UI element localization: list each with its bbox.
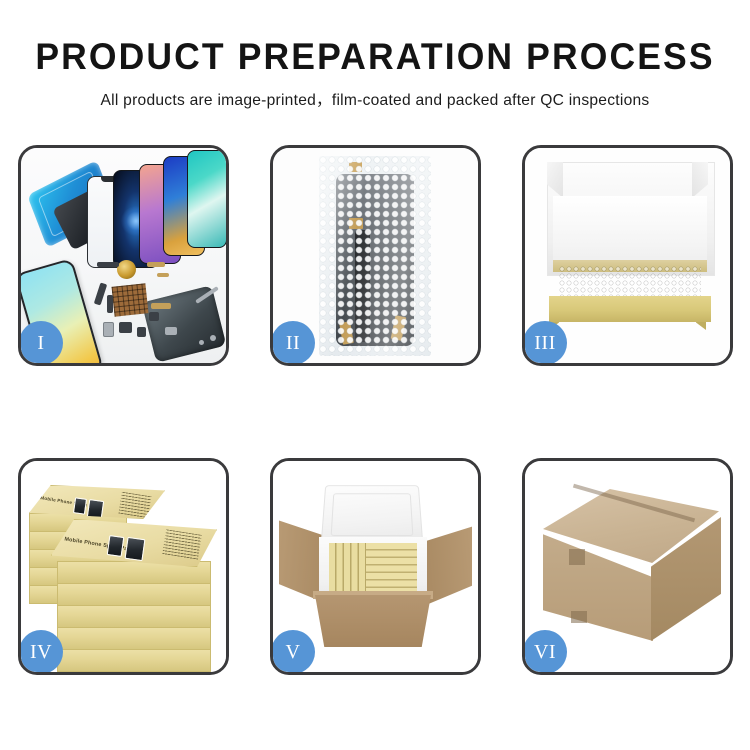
step-badge-5: V bbox=[271, 630, 315, 674]
step-badge-6: VI bbox=[523, 630, 567, 674]
step-badge-1: I bbox=[19, 321, 63, 365]
camera-module bbox=[149, 312, 159, 321]
screw bbox=[210, 335, 216, 341]
box-label-spec-lines bbox=[162, 529, 202, 560]
page-subtitle: All products are image-printed，film-coat… bbox=[0, 88, 750, 110]
spare-part bbox=[97, 262, 119, 267]
logic-board-chip bbox=[112, 283, 149, 316]
sim-tray bbox=[103, 322, 114, 337]
bubble-wrapped-contents bbox=[559, 266, 701, 298]
box-label-thumbnail bbox=[107, 535, 125, 557]
process-step-panel-6[interactable]: VI bbox=[522, 458, 733, 675]
metal-bracket bbox=[165, 327, 177, 335]
phone-screen-teal-wallpaper bbox=[187, 150, 226, 248]
carton-tab bbox=[569, 549, 585, 565]
bubble-wrap-bag bbox=[319, 156, 431, 356]
box-label-thumbnail bbox=[73, 497, 87, 515]
spare-part bbox=[157, 273, 169, 277]
box-label-thumbnail bbox=[125, 537, 146, 561]
process-step-panel-5[interactable]: V bbox=[270, 458, 481, 675]
printed-box-top-back: Mobile Phone Spare Parts bbox=[29, 485, 165, 519]
step-badge-3: III bbox=[523, 321, 567, 365]
plastic-gloss bbox=[319, 156, 431, 356]
process-panel-grid: I II bbox=[18, 145, 733, 675]
carton-tab bbox=[571, 611, 587, 623]
process-step-panel-3[interactable]: III bbox=[522, 145, 733, 366]
step-badge-2: II bbox=[271, 321, 315, 365]
kraft-box-front bbox=[549, 296, 711, 322]
connector bbox=[151, 303, 171, 309]
box-label-spec-lines bbox=[118, 492, 151, 518]
packed-yellow-boxes bbox=[329, 543, 417, 591]
speaker-component bbox=[117, 260, 136, 279]
camera-module bbox=[119, 322, 132, 333]
spare-part bbox=[147, 262, 165, 267]
process-step-panel-2[interactable]: II bbox=[270, 145, 481, 366]
process-step-panel-4[interactable]: Mobile Phone Spare Parts Mobile Phone Sp… bbox=[18, 458, 229, 675]
step-badge-4: IV bbox=[19, 630, 63, 674]
flex-cable bbox=[107, 295, 113, 313]
page-header: PRODUCT PREPARATION PROCESS All products… bbox=[0, 0, 750, 110]
screw bbox=[199, 340, 204, 345]
box-label-thumbnail bbox=[87, 499, 104, 519]
page-title: PRODUCT PREPARATION PROCESS bbox=[15, 38, 735, 76]
vibration-motor bbox=[137, 327, 146, 337]
process-step-panel-1[interactable]: I bbox=[18, 145, 229, 366]
carton-front-panel bbox=[315, 595, 431, 647]
